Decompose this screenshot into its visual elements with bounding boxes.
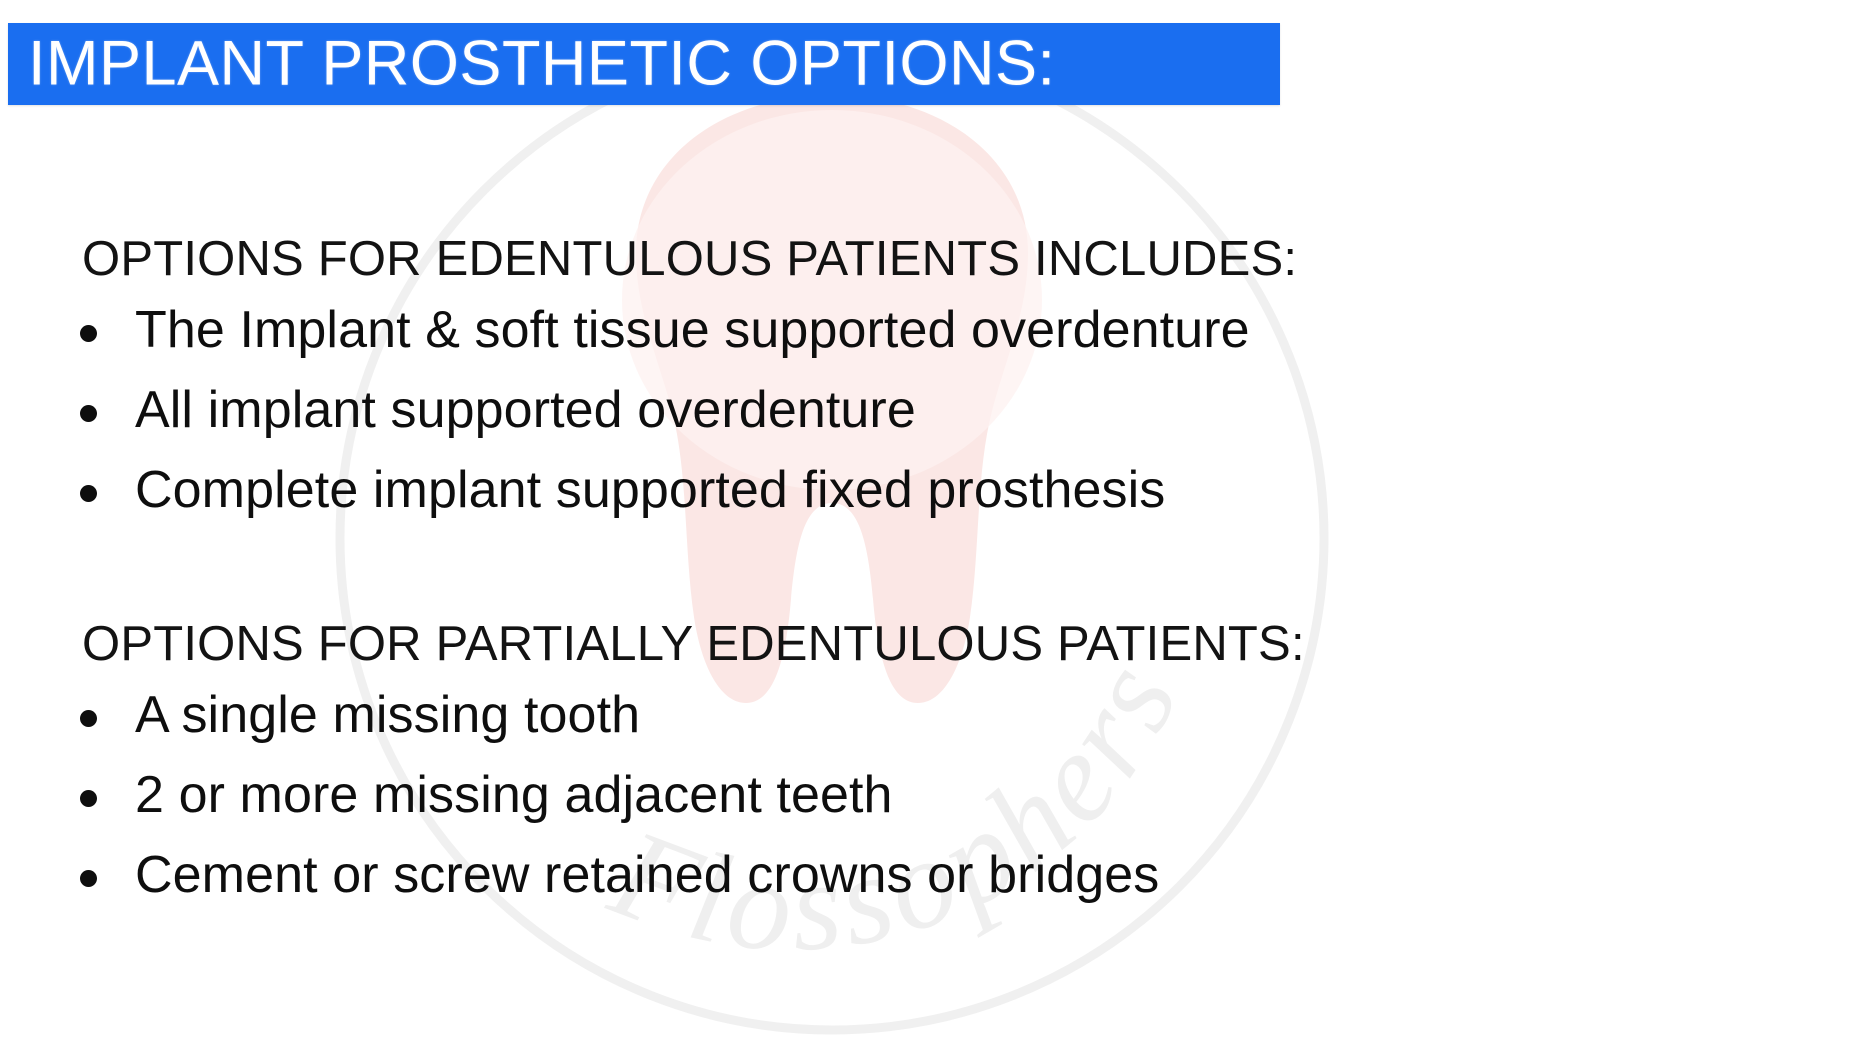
bullet-dot-icon (80, 405, 97, 422)
slide-content: OPTIONS FOR EDENTULOUS PATIENTS INCLUDES… (0, 0, 1871, 1063)
section-edentulous: OPTIONS FOR EDENTULOUS PATIENTS INCLUDES… (0, 228, 1871, 530)
list-item-label: Complete implant supported fixed prosthe… (135, 461, 1165, 519)
list-item: A single missing tooth (0, 675, 1871, 755)
list-item-label: A single missing tooth (135, 686, 640, 744)
list-item: All implant supported overdenture (0, 370, 1871, 450)
bullet-dot-icon (80, 325, 97, 342)
list-item: Cement or screw retained crowns or bridg… (0, 835, 1871, 915)
section-heading-partially-edentulous: OPTIONS FOR PARTIALLY EDENTULOUS PATIENT… (0, 613, 1871, 675)
list-item-label: 2 or more missing adjacent teeth (135, 766, 893, 824)
section-partially-edentulous: OPTIONS FOR PARTIALLY EDENTULOUS PATIENT… (0, 613, 1871, 915)
list-item-label: Cement or screw retained crowns or bridg… (135, 846, 1159, 904)
list-item: The Implant & soft tissue supported over… (0, 290, 1871, 370)
list-item-label: All implant supported overdenture (135, 381, 916, 439)
slide-root: Flossophers IMPLANT PROSTHETIC OPTIONS: … (0, 0, 1871, 1063)
list-item-label: The Implant & soft tissue supported over… (135, 301, 1250, 359)
section-heading-edentulous: OPTIONS FOR EDENTULOUS PATIENTS INCLUDES… (0, 228, 1871, 290)
bullet-dot-icon (80, 710, 97, 727)
bullet-list-partially-edentulous: A single missing tooth 2 or more missing… (0, 675, 1871, 915)
bullet-list-edentulous: The Implant & soft tissue supported over… (0, 290, 1871, 530)
bullet-dot-icon (80, 870, 97, 887)
bullet-dot-icon (80, 790, 97, 807)
list-item: 2 or more missing adjacent teeth (0, 755, 1871, 835)
bullet-dot-icon (80, 485, 97, 502)
list-item: Complete implant supported fixed prosthe… (0, 450, 1871, 530)
